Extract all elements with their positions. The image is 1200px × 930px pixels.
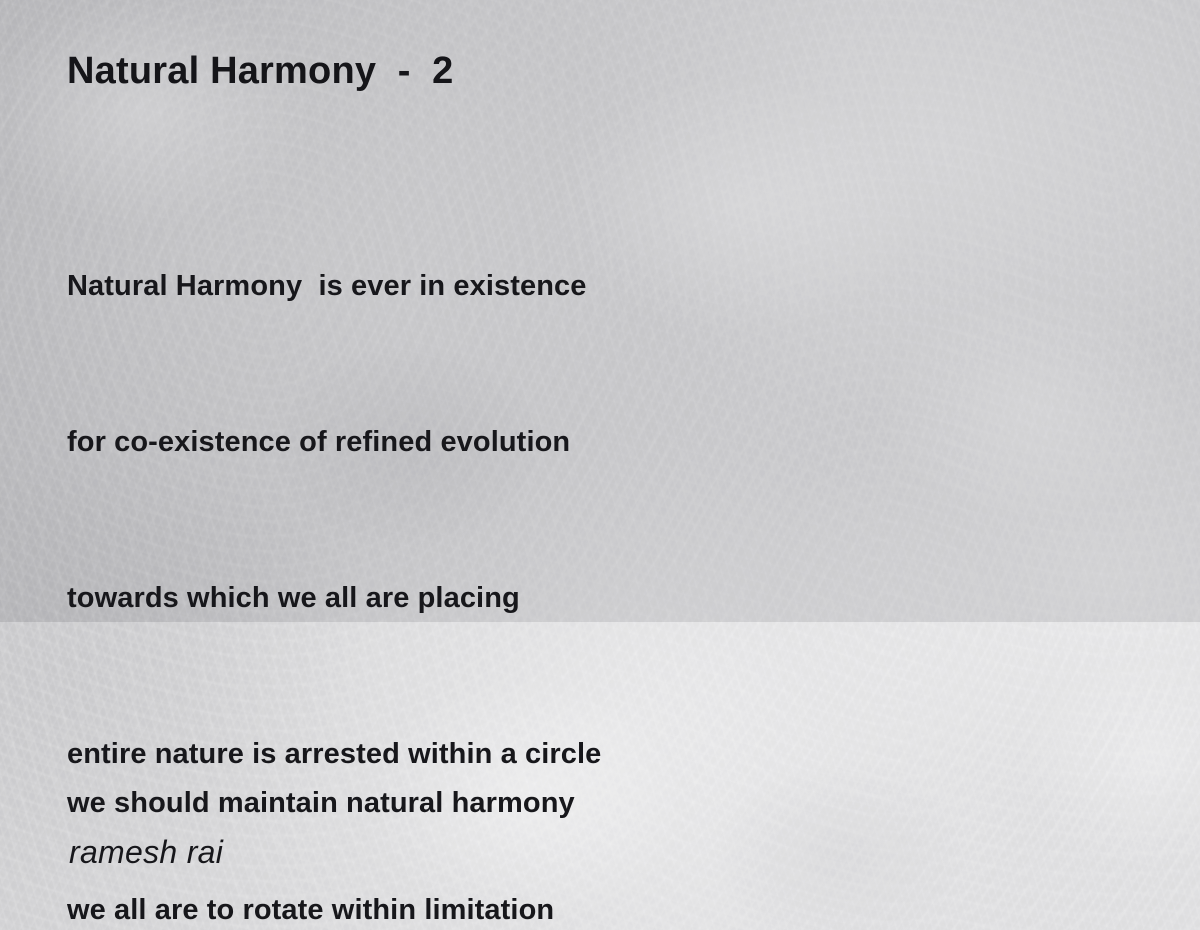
- poem-content: Natural Harmony - 2 Natural Harmony is e…: [0, 0, 1200, 930]
- poem-line: Natural Harmony is ever in existence: [67, 260, 609, 312]
- poem-image-card: Natural Harmony - 2 Natural Harmony is e…: [0, 0, 1200, 930]
- poem-stanza-2: we should maintain natural harmony to su…: [67, 673, 575, 930]
- poem-line: for co-existence of refined evolution: [67, 416, 609, 468]
- poem-title: Natural Harmony - 2: [67, 50, 453, 93]
- poem-line: towards which we all are placing: [67, 572, 609, 624]
- poem-author-signature: ramesh rai: [69, 834, 223, 871]
- poem-line: we should maintain natural harmony: [67, 777, 575, 829]
